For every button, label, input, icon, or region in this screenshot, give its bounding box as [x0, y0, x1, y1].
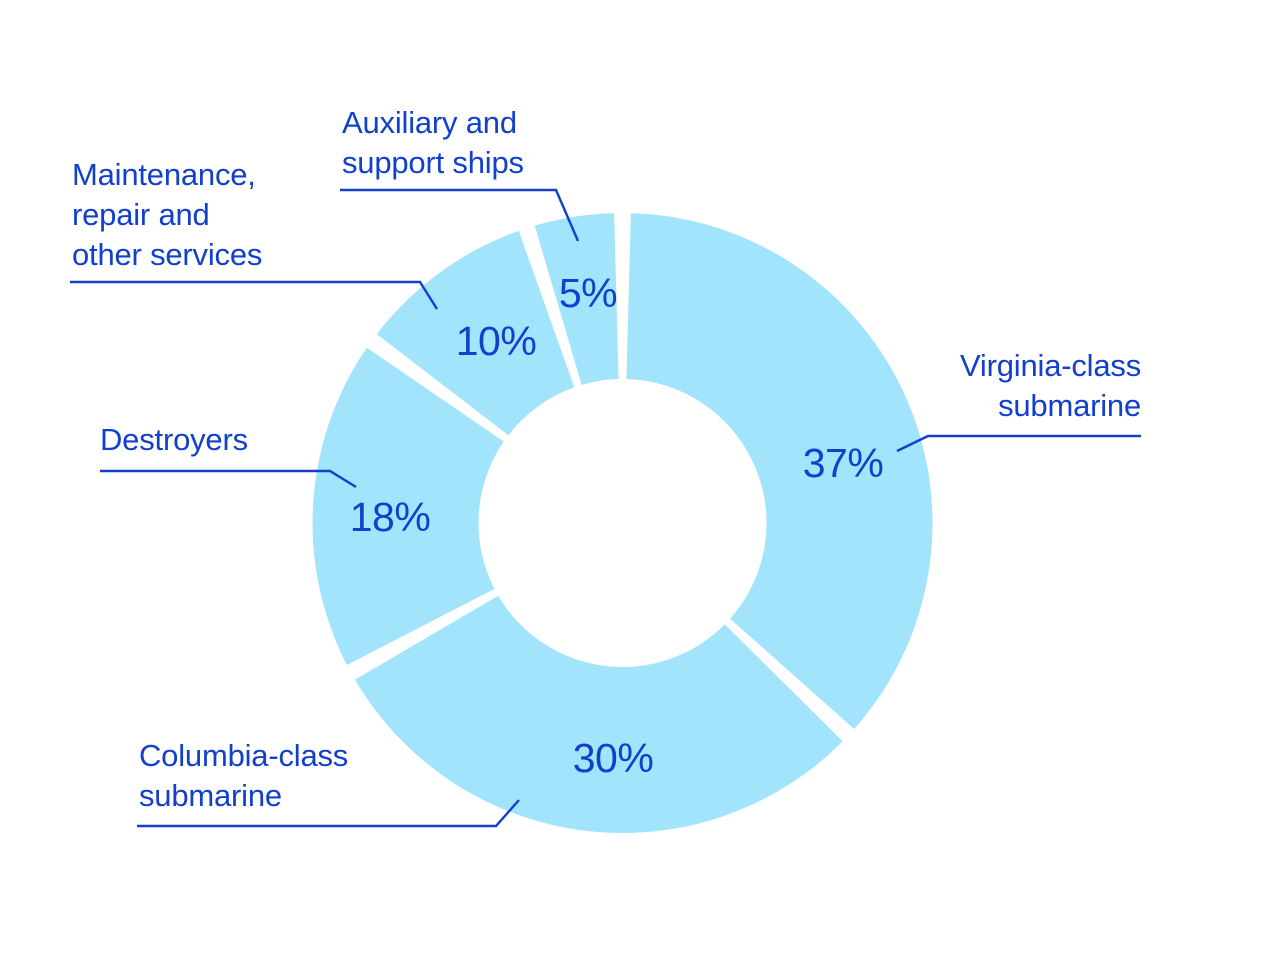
category-label-maintenance-line-3: other services [72, 237, 262, 272]
category-label-virginia-line-1: Virginia-class [960, 348, 1141, 383]
category-label-auxiliary-line-2: support ships [342, 145, 524, 180]
category-label-columbia-line-1: Columbia-class [139, 738, 348, 773]
leader-line-virginia [897, 436, 1141, 451]
category-label-columbia-line-2: submarine [139, 778, 282, 813]
percent-label-maintenance: 10% [456, 318, 537, 364]
category-label-maintenance-line-1: Maintenance, [72, 157, 256, 192]
leader-line-maintenance [70, 282, 437, 309]
donut-chart-svg: Maintenance, repair and other services A… [0, 0, 1274, 957]
percent-label-virginia: 37% [803, 440, 884, 486]
slice-virginia-class-submarine[interactable] [626, 213, 932, 729]
percent-label-auxiliary: 5% [559, 270, 617, 316]
percent-label-destroyers: 18% [350, 494, 431, 540]
category-label-maintenance-line-2: repair and [72, 197, 210, 232]
category-label-destroyers-line-1: Destroyers [100, 422, 248, 457]
percent-label-columbia: 30% [573, 735, 654, 781]
category-label-virginia-line-2: submarine [998, 388, 1141, 423]
category-label-auxiliary-line-1: Auxiliary and [342, 105, 517, 140]
donut-chart-figure: Maintenance, repair and other services A… [0, 0, 1274, 957]
